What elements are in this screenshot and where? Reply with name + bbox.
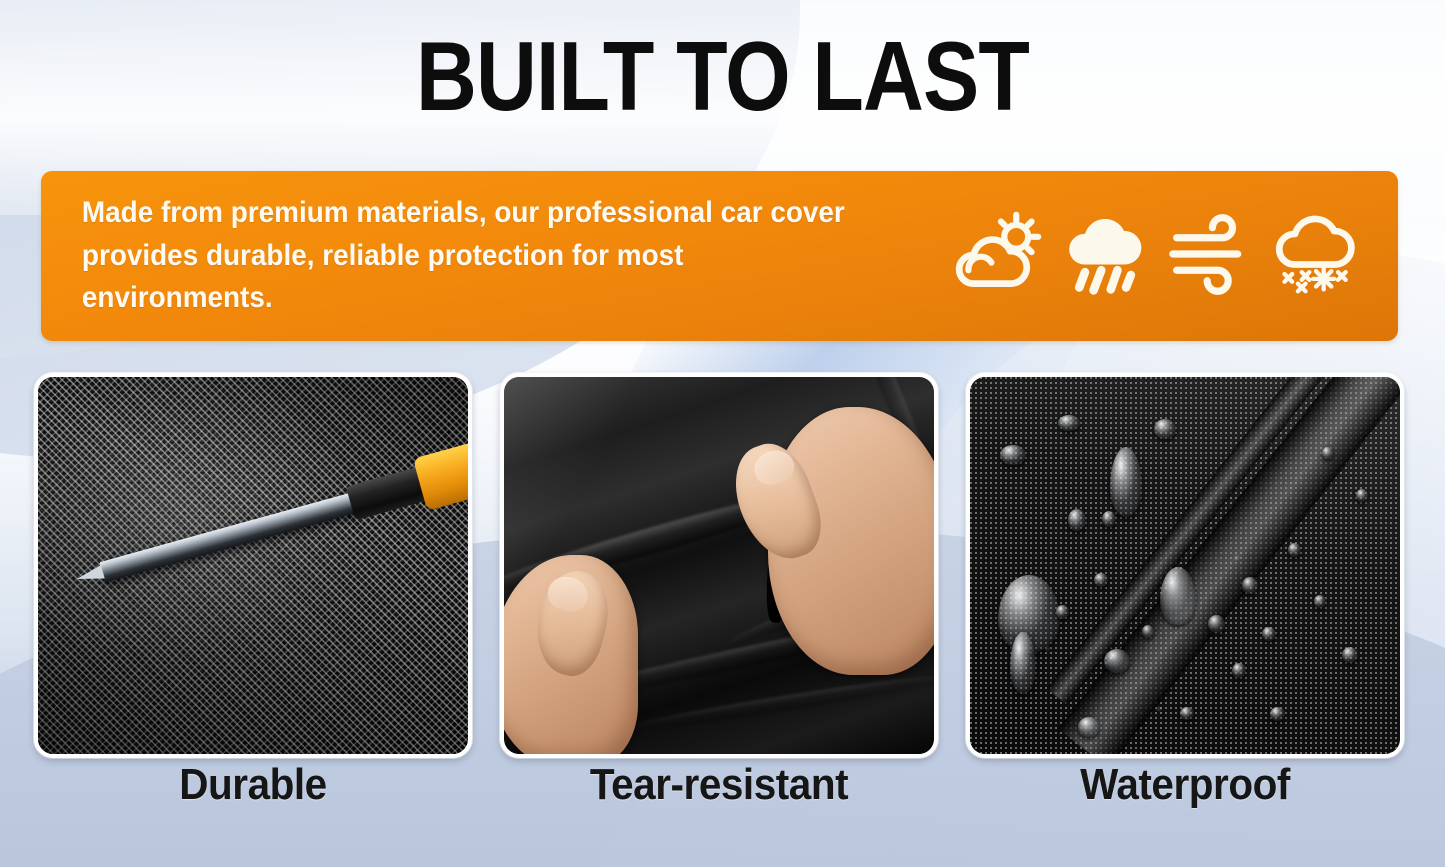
- sun-cloud-icon: [952, 211, 1048, 297]
- water-droplet: [1208, 615, 1225, 633]
- feature-panel-tear-resistant: [500, 373, 938, 758]
- water-droplet: [1342, 647, 1358, 663]
- hands-stretching-material-photo: [504, 377, 934, 754]
- water-droplet: [1056, 605, 1069, 619]
- water-droplet: [1262, 627, 1276, 641]
- fine-spray: [970, 377, 1400, 754]
- water-droplet: [1154, 419, 1176, 439]
- caption-durable: Durable: [52, 760, 455, 810]
- snow-cloud-icon: [1269, 211, 1365, 297]
- water-droplet: [1322, 447, 1333, 459]
- water-droplet: [1142, 625, 1154, 638]
- water-droplet: [1058, 415, 1080, 431]
- water-droplet: [1288, 543, 1301, 557]
- water-droplet: [1010, 632, 1036, 694]
- water-droplet: [1356, 489, 1368, 502]
- water-droplets-fabric-photo: [970, 377, 1400, 754]
- feature-panel-group: [34, 373, 1404, 758]
- caption-tear-resistant: Tear-resistant: [518, 760, 921, 810]
- banner-description-text: Made from premium materials, our profess…: [41, 192, 878, 320]
- fabric-screwdriver-photo: [38, 377, 468, 754]
- infographic: BUILT TO LAST Made from premium material…: [0, 0, 1445, 867]
- rain-cloud-icon: [1058, 211, 1154, 297]
- feature-panel-durable: [34, 373, 472, 758]
- caption-waterproof: Waterproof: [984, 760, 1387, 810]
- water-droplet: [1094, 573, 1108, 587]
- water-droplet: [1160, 567, 1196, 625]
- water-droplet: [1000, 445, 1026, 465]
- caption-group: Durable Tear-resistant Waterproof: [34, 760, 1404, 810]
- water-droplet: [1078, 717, 1100, 737]
- page-title: BUILT TO LAST: [101, 27, 1344, 125]
- water-droplet: [1102, 511, 1116, 527]
- water-droplet: [1242, 577, 1258, 594]
- feature-panel-waterproof: [966, 373, 1404, 758]
- water-droplet: [1270, 707, 1285, 721]
- water-droplet: [1314, 595, 1326, 608]
- weather-icon-group: [941, 211, 1398, 297]
- water-droplet: [1180, 707, 1194, 720]
- water-droplet: [1232, 663, 1246, 678]
- description-banner: Made from premium materials, our profess…: [41, 171, 1398, 341]
- water-droplet: [1104, 649, 1130, 673]
- water-droplet: [1068, 509, 1086, 531]
- wind-icon: [1163, 211, 1259, 297]
